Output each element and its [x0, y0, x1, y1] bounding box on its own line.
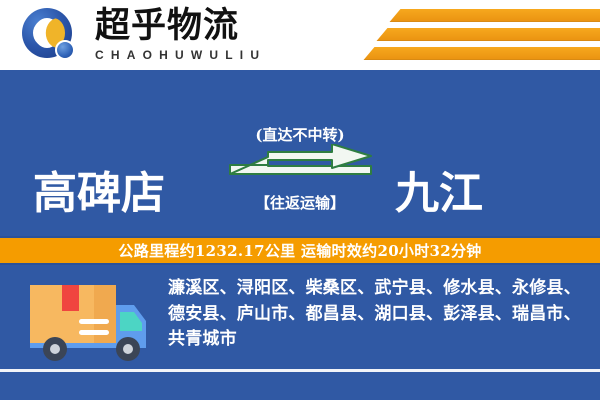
banner-header: 超乎物流 CHAOHUWULIU [0, 0, 600, 70]
destination-city: 九江 [395, 170, 483, 218]
route-panel: 高碑店 (直达不中转) 【往返运输】 九江 [0, 70, 600, 232]
distance-duration-text: 公路里程约1232.17公里 运输时效约20小时32分钟 [118, 240, 481, 261]
header-stripe-1 [390, 9, 600, 22]
circle-moon-logo-icon [22, 8, 78, 62]
brand-name-cn: 超乎物流 [95, 6, 305, 46]
distance-duration-bar: 公路里程约1232.17公里 运输时效约20小时32分钟 [0, 236, 600, 265]
bidirectional-arrow-icon [228, 144, 373, 186]
header-stripe-2 [377, 28, 600, 41]
delivery-truck-icon [22, 279, 152, 361]
coverage-areas-text: 濂溪区、浔阳区、柴桑区、武宁县、修水县、永修县、德安县、庐山市、都昌县、湖口县、… [168, 276, 586, 353]
brand-block: 超乎物流 CHAOHUWULIU [95, 6, 305, 62]
route-note-direct: (直达不中转) [0, 124, 600, 145]
header-stripe-3 [364, 47, 600, 60]
brand-name-en: CHAOHUWULIU [95, 48, 305, 62]
bottom-divider [0, 369, 600, 372]
logistics-route-banner: 超乎物流 CHAOHUWULIU 高碑店 (直达不中转) 【往返运输】 九江 公… [0, 0, 600, 400]
logo-accent-dot [55, 40, 75, 60]
route-note-roundtrip: 【往返运输】 [0, 192, 600, 213]
coverage-panel: 濂溪区、浔阳区、柴桑区、武宁县、修水县、永修县、德安县、庐山市、都昌县、湖口县、… [0, 267, 600, 368]
